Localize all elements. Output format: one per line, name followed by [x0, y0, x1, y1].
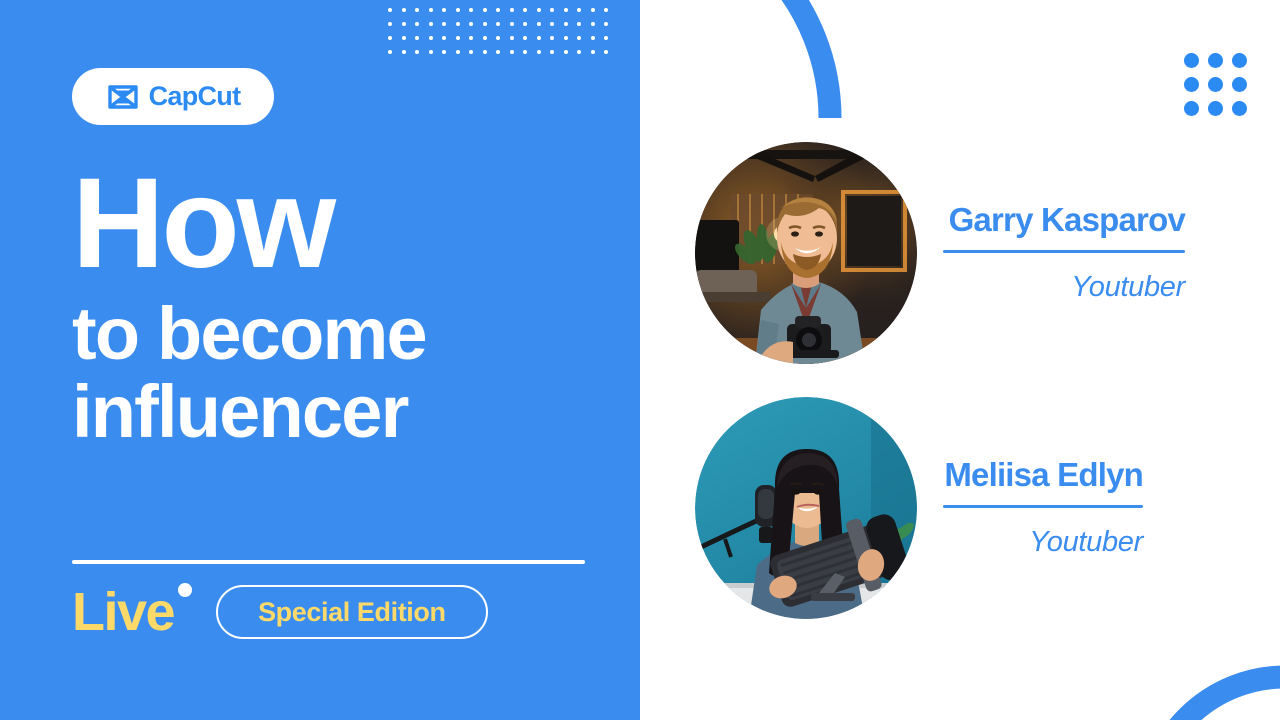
headline-line-1: How: [72, 168, 612, 281]
dot-grid-icon: [388, 8, 618, 64]
avatar: [695, 397, 917, 619]
speaker-role: Youtuber: [1071, 272, 1185, 304]
avatar: [695, 142, 917, 364]
speaker-photo-garry: [695, 142, 917, 364]
special-edition-label: Special Edition: [258, 599, 446, 626]
speaker-meta: Meliisa Edlyn Youtuber: [943, 457, 1143, 559]
speaker-name-underline: [943, 250, 1185, 253]
live-status-dot-icon: [178, 583, 192, 597]
capcut-hourglass-icon: [106, 84, 140, 110]
nine-dot-grid-icon: [1184, 53, 1256, 125]
headline-line-2: to become: [72, 295, 612, 373]
speaker-photo-meliisa: [695, 397, 917, 619]
headline-line-3: influencer: [72, 373, 612, 451]
live-label: Live: [72, 585, 198, 639]
live-label-text: Live: [72, 582, 174, 642]
speaker-name: Garry Kasparov: [949, 202, 1185, 238]
speaker-name: Meliisa Edlyn: [944, 457, 1143, 493]
speaker-role: Youtuber: [1029, 527, 1143, 559]
capcut-logo[interactable]: CapCut: [72, 68, 274, 125]
page-title: How to become influencer: [72, 168, 612, 452]
poster-canvas: CapCut How to become influencer Live Spe…: [0, 0, 1280, 720]
special-edition-badge[interactable]: Special Edition: [216, 585, 488, 639]
quarter-arc-icon: [1135, 565, 1280, 720]
speaker-name-underline: [943, 505, 1143, 508]
live-badge-row: Live Special Edition: [72, 585, 488, 639]
speaker-meta: Garry Kasparov Youtuber: [943, 202, 1185, 304]
capcut-logo-text: CapCut: [149, 83, 241, 110]
speaker-card[interactable]: Garry Kasparov Youtuber: [695, 142, 1185, 364]
headline-divider: [72, 560, 585, 564]
speaker-card[interactable]: Meliisa Edlyn Youtuber: [695, 397, 1143, 619]
